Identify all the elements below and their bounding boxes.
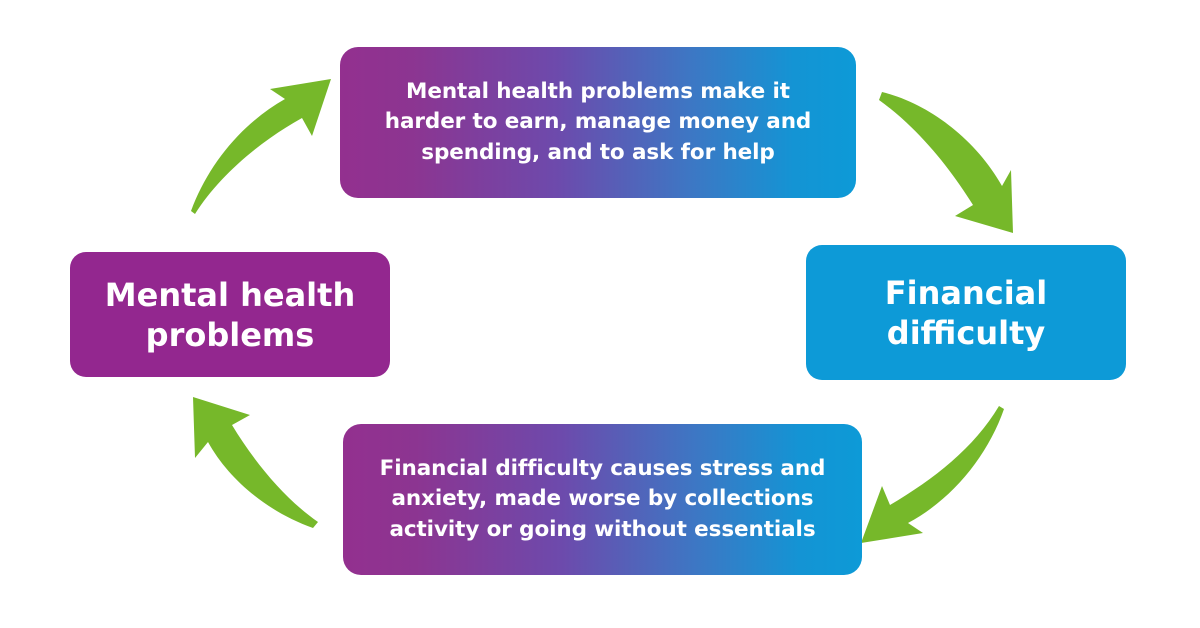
node-bottom-label: Financial difficulty causes stress and a… bbox=[369, 454, 836, 546]
cycle-diagram: Mental health problems make it harder to… bbox=[0, 0, 1200, 628]
arrow-top-left-icon bbox=[191, 79, 331, 214]
node-mental-health-problems: Mental healthproblems bbox=[70, 252, 390, 377]
node-financial-difficulty: Financialdifficulty bbox=[806, 245, 1126, 380]
node-right-label: Financialdifficulty bbox=[824, 273, 1108, 353]
node-financial-difficulty-to-mental-health: Financial difficulty causes stress and a… bbox=[343, 424, 862, 575]
arrow-top-right-icon bbox=[879, 92, 1013, 233]
node-left-label: Mental healthproblems bbox=[88, 275, 372, 355]
arrow-bottom-right-icon bbox=[861, 406, 1004, 543]
node-mental-health-to-financial-difficulty: Mental health problems make it harder to… bbox=[340, 47, 856, 198]
arrow-bottom-left-icon bbox=[193, 397, 318, 528]
node-top-label: Mental health problems make it harder to… bbox=[366, 77, 830, 169]
